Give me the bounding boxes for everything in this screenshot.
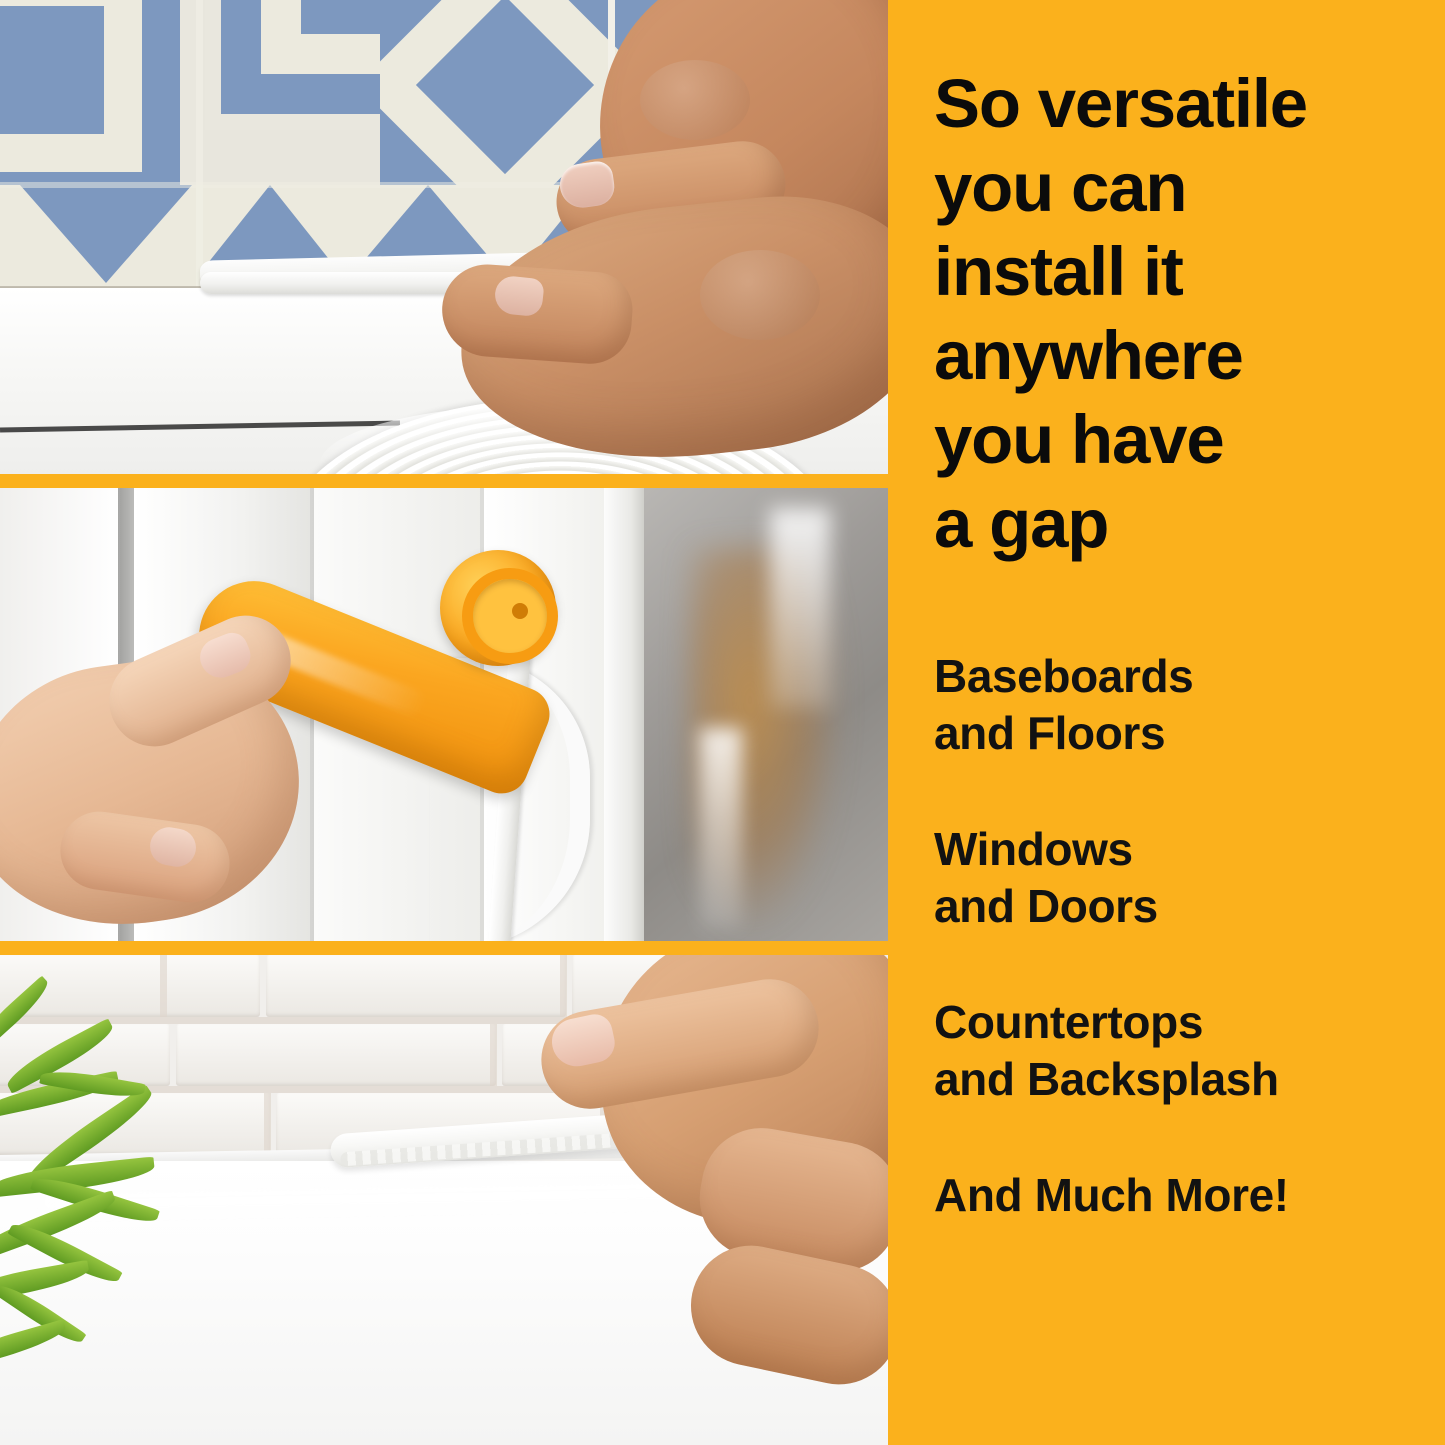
headline-line-4: anywhere xyxy=(934,314,1414,398)
glass-highlight xyxy=(770,508,830,708)
panel-divider xyxy=(0,474,888,488)
tool-roller-ring xyxy=(462,568,558,664)
headline-line-3: install it xyxy=(934,230,1414,314)
list-item-countertops: Countertops and Backsplash xyxy=(934,994,1434,1108)
window-sash xyxy=(600,488,644,941)
use-case-list: Baseboards and Floors Windows and Doors … xyxy=(934,648,1434,1224)
list-item-line: Windows xyxy=(934,821,1434,878)
product-feature-graphic: So versatile you can install it anywhere… xyxy=(0,0,1445,1445)
headline-line-6: a gap xyxy=(934,482,1414,566)
list-item-line: Countertops xyxy=(934,994,1434,1051)
headline-line-1: So versatile xyxy=(934,62,1414,146)
list-item-line: And Much More! xyxy=(934,1167,1434,1224)
photo-panel-tile-backsplash xyxy=(0,0,888,474)
panel-divider xyxy=(0,941,888,955)
headline-line-2: you can xyxy=(934,146,1414,230)
text-panel: So versatile you can install it anywhere… xyxy=(888,0,1445,1445)
list-item-line: and Floors xyxy=(934,705,1434,762)
list-item-baseboards: Baseboards and Floors xyxy=(934,648,1434,762)
green-plant xyxy=(0,985,250,1405)
photo-column xyxy=(0,0,888,1445)
list-item-and-much-more: And Much More! xyxy=(934,1167,1434,1224)
tool-vent-hole xyxy=(512,603,528,619)
list-item-line: and Backsplash xyxy=(934,1051,1434,1108)
headline: So versatile you can install it anywhere… xyxy=(934,62,1414,566)
photo-panel-countertop xyxy=(0,955,888,1445)
thumb xyxy=(439,261,635,366)
glass-highlight xyxy=(700,728,742,928)
list-item-line: Baseboards xyxy=(934,648,1434,705)
list-item-line: and Doors xyxy=(934,878,1434,935)
tile-grout-line xyxy=(196,0,203,300)
headline-line-5: you have xyxy=(934,398,1414,482)
list-item-windows: Windows and Doors xyxy=(934,821,1434,935)
photo-panel-window-frame xyxy=(0,488,888,941)
